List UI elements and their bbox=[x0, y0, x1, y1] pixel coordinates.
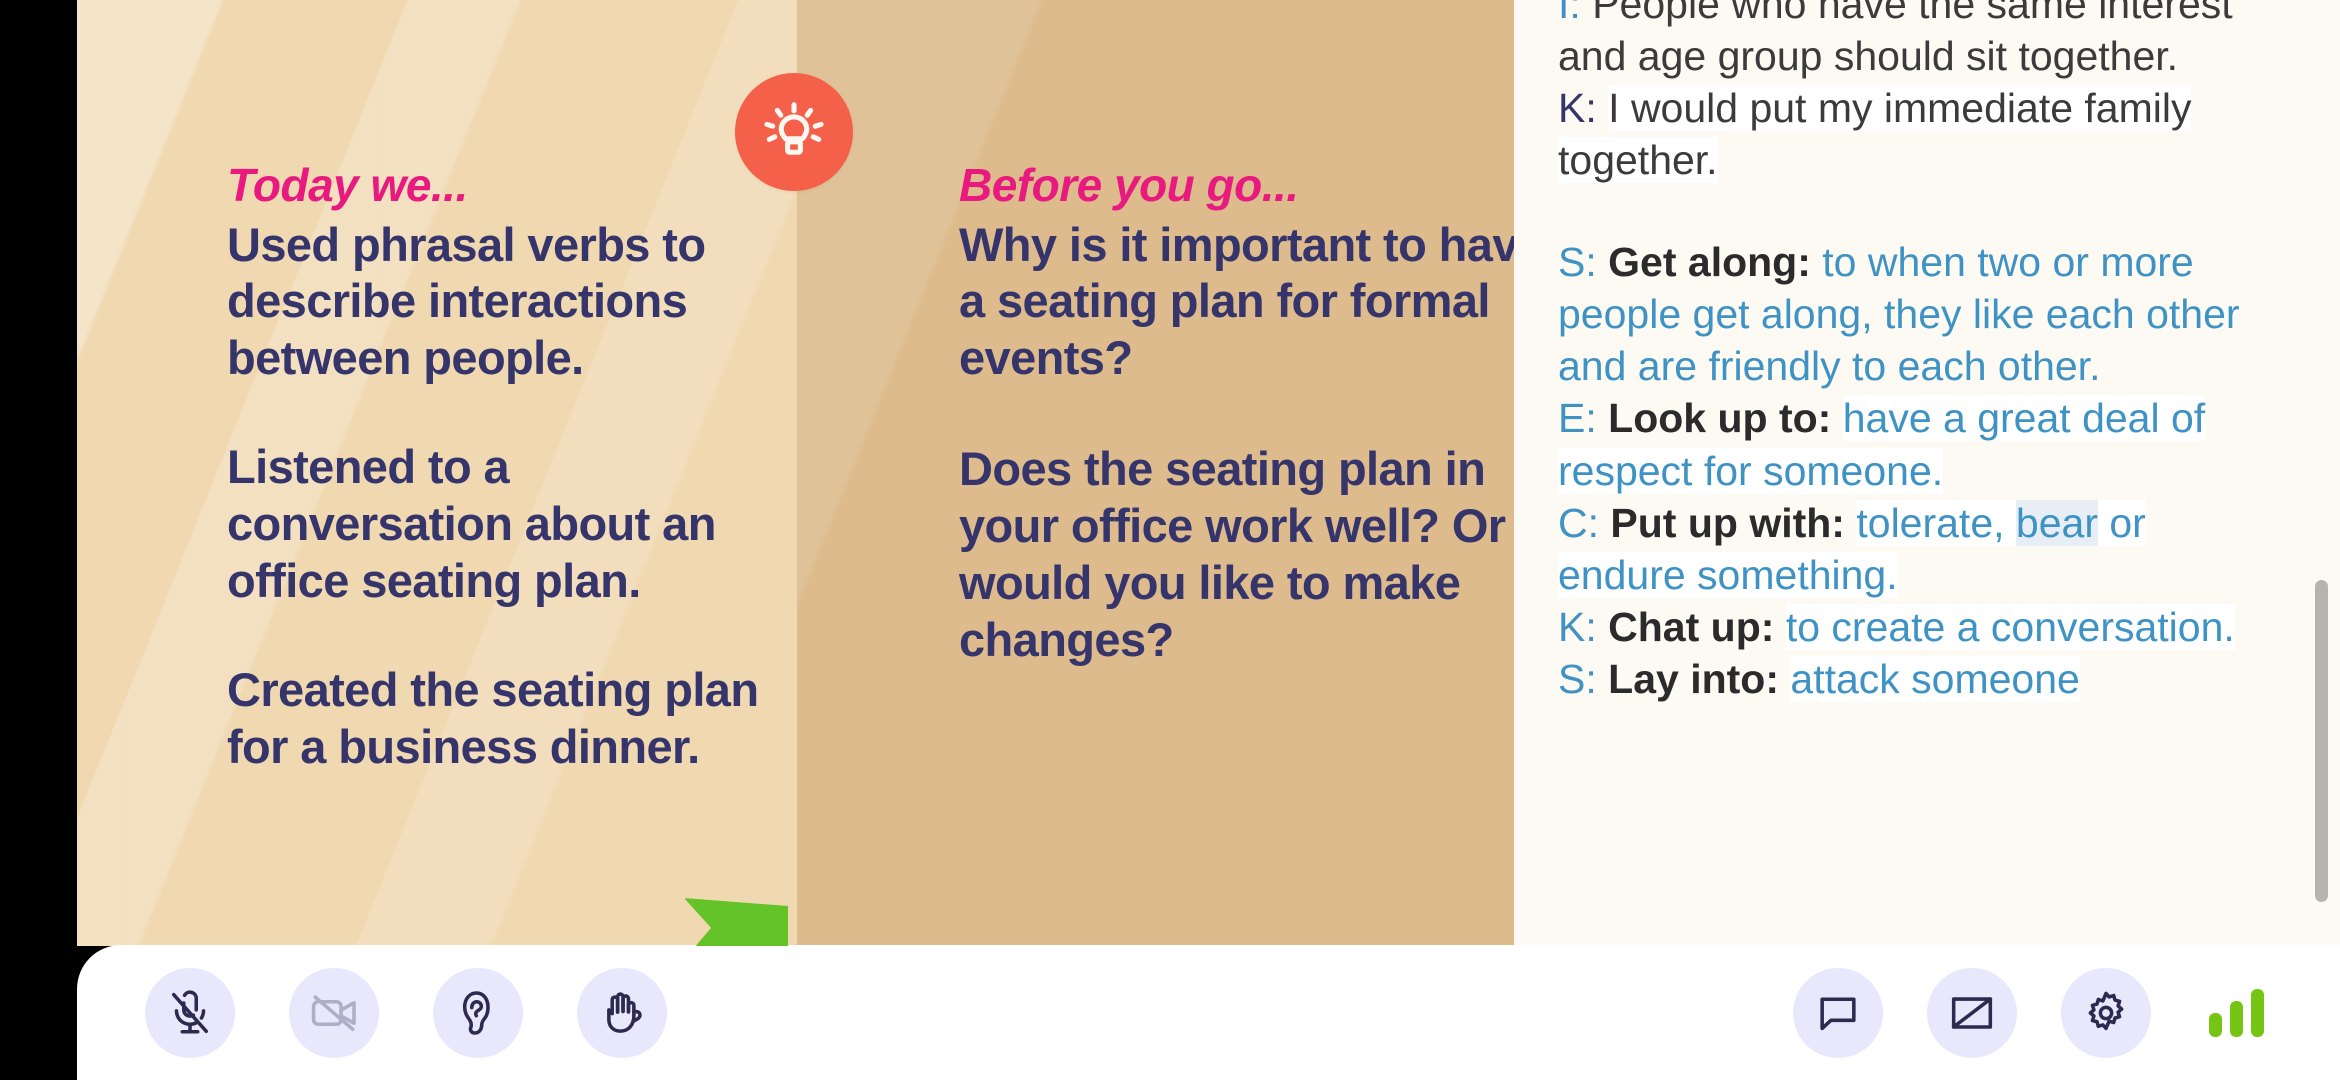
transcript-line: K: I would put my immediate family toget… bbox=[1558, 82, 2278, 186]
ear-icon bbox=[453, 988, 503, 1038]
before-eyebrow: Before you go... bbox=[959, 160, 1514, 211]
transcript-spacer bbox=[1558, 186, 2278, 236]
screen-share-off-button[interactable] bbox=[1927, 968, 2017, 1058]
today-eyebrow: Today we... bbox=[227, 160, 767, 211]
lightbulb-badge bbox=[735, 73, 853, 191]
slide-column-before-you-go: Before you go... Why is it important to … bbox=[959, 160, 1514, 669]
phrasal-verb-definition: attack someone bbox=[1790, 656, 2079, 702]
speaker-initial: S: bbox=[1558, 656, 1597, 702]
vocab-entry: S: Lay into: attack someone bbox=[1558, 653, 2278, 705]
today-paragraph-1: Used phrasal verbs to describe interacti… bbox=[227, 217, 767, 388]
microphone-muted-icon bbox=[165, 988, 215, 1038]
vocab-entry: C: Put up with: tolerate, bear or endure… bbox=[1558, 497, 2278, 601]
speaker-initial: K: bbox=[1558, 85, 1597, 131]
phrasal-verb-term: Put up with: bbox=[1610, 500, 1845, 546]
transcript-text: People who have the same interest and ag… bbox=[1558, 0, 2233, 79]
phrasal-verb-term: Look up to: bbox=[1608, 395, 1831, 441]
microphone-muted-button[interactable] bbox=[145, 968, 235, 1058]
gear-icon bbox=[2081, 988, 2131, 1038]
left-gutter bbox=[0, 0, 77, 1080]
before-paragraph-2: Does the seating plan in your office wor… bbox=[959, 441, 1514, 668]
before-paragraph-1: Why is it important to have a seating pl… bbox=[959, 217, 1514, 388]
slide-column-today: Today we... Used phrasal verbs to descri… bbox=[227, 160, 767, 775]
raise-hand-button[interactable] bbox=[577, 968, 667, 1058]
phrasal-verb-definition: to create a conversation. bbox=[1786, 604, 2235, 650]
shared-slide: Today we... Used phrasal verbs to descri… bbox=[77, 0, 1514, 946]
today-paragraph-3: Created the seating plan for a business … bbox=[227, 662, 767, 776]
toolbar-right-group bbox=[1793, 968, 2264, 1058]
settings-button[interactable] bbox=[2061, 968, 2151, 1058]
camera-off-button[interactable] bbox=[289, 968, 379, 1058]
speaker-initial: S: bbox=[1558, 239, 1597, 285]
today-paragraph-2: Listened to a conversation about an offi… bbox=[227, 439, 767, 610]
selected-word: bear bbox=[2016, 500, 2098, 546]
transcript-scrollbar[interactable] bbox=[2315, 580, 2328, 902]
speaker-initial: C: bbox=[1558, 500, 1599, 546]
phrasal-verb-term: Get along: bbox=[1608, 239, 1811, 285]
transcript-content: I: People who have the same interest and… bbox=[1558, 0, 2278, 705]
speaker-initial: E: bbox=[1558, 395, 1597, 441]
camera-off-icon bbox=[309, 988, 359, 1038]
lesson-window: Today we... Used phrasal verbs to descri… bbox=[0, 0, 2340, 1080]
meeting-toolbar bbox=[77, 945, 2340, 1080]
speaker-initial: I: bbox=[1558, 0, 1581, 27]
vocab-entry: E: Look up to: have a great deal of resp… bbox=[1558, 392, 2278, 496]
transcript-text: I would put my immediate family together… bbox=[1558, 85, 2191, 183]
phrasal-verb-term: Chat up: bbox=[1608, 604, 1774, 650]
chat-bubble-icon bbox=[1813, 988, 1863, 1038]
vocab-entry: S: Get along: to when two or more people… bbox=[1558, 236, 2278, 392]
screen-share-off-icon bbox=[1947, 988, 1997, 1038]
transcript-panel[interactable]: I: People who have the same interest and… bbox=[1514, 0, 2340, 946]
vocab-entry: K: Chat up: to create a conversation. bbox=[1558, 601, 2278, 653]
phrasal-verb-term: Lay into: bbox=[1608, 656, 1779, 702]
listening-mode-button[interactable] bbox=[433, 968, 523, 1058]
chat-button[interactable] bbox=[1793, 968, 1883, 1058]
speaker-initial: K: bbox=[1558, 604, 1597, 650]
toolbar-left-group bbox=[145, 968, 667, 1058]
raise-hand-icon bbox=[597, 988, 647, 1038]
signal-strength-icon bbox=[2209, 989, 2264, 1037]
transcript-line: I: People who have the same interest and… bbox=[1558, 0, 2278, 82]
lightbulb-icon bbox=[757, 95, 831, 169]
